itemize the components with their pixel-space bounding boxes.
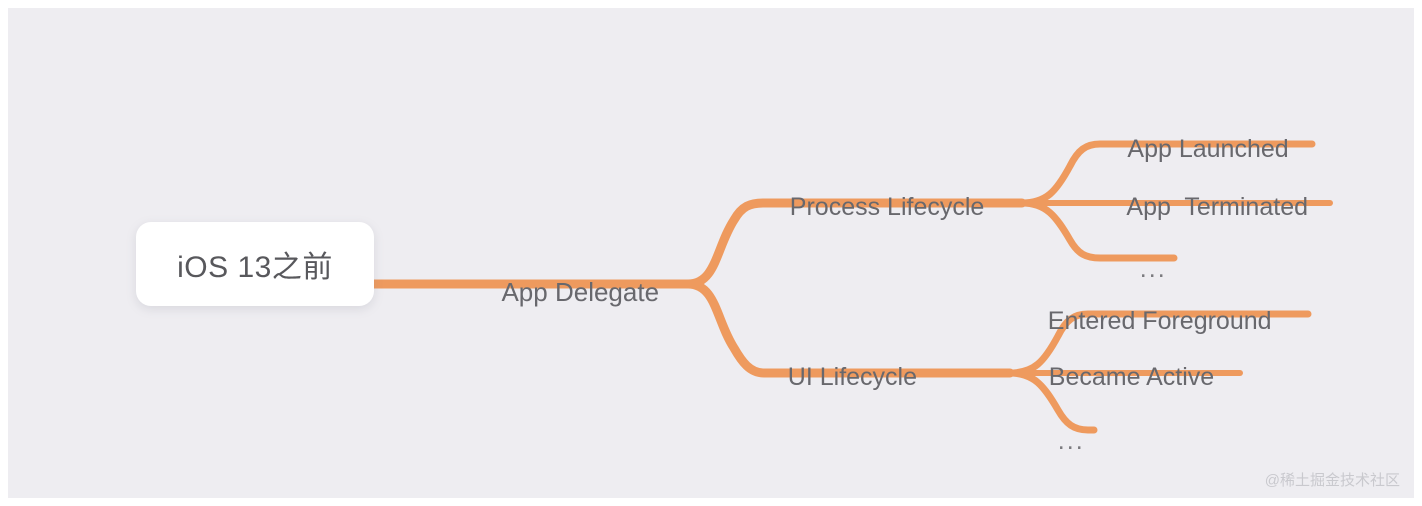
node-app-delegate[interactable]: App Delegate (474, 253, 659, 331)
watermark: @稀土掘金技术社区 (1265, 469, 1400, 490)
node-process-ellipsis-label: ... (1140, 255, 1167, 283)
node-app-terminated-label: App Terminated (1126, 193, 1308, 221)
node-app-launched-label: App Launched (1127, 135, 1288, 163)
node-ui-ellipsis[interactable]: ... (1022, 404, 1085, 479)
node-ui-lifecycle-label: UI Lifecycle (788, 363, 917, 391)
node-entered-foreground-label: Entered Foreground (1048, 307, 1272, 335)
node-became-active-label: Became Active (1049, 363, 1214, 391)
node-ui-lifecycle[interactable]: UI Lifecycle (760, 340, 917, 415)
watermark-text: @稀土掘金技术社区 (1265, 472, 1400, 489)
root-node[interactable]: iOS 13之前 (136, 222, 374, 306)
node-app-delegate-label: App Delegate (501, 277, 659, 307)
mindmap-diagram: iOS 13之前 App Delegate Process Lifecycle … (0, 0, 1422, 506)
root-node-label: iOS 13之前 (177, 242, 333, 286)
node-ui-ellipsis-label: ... (1058, 427, 1085, 455)
node-process-lifecycle[interactable]: Process Lifecycle (762, 170, 984, 245)
node-process-lifecycle-label: Process Lifecycle (790, 193, 985, 221)
